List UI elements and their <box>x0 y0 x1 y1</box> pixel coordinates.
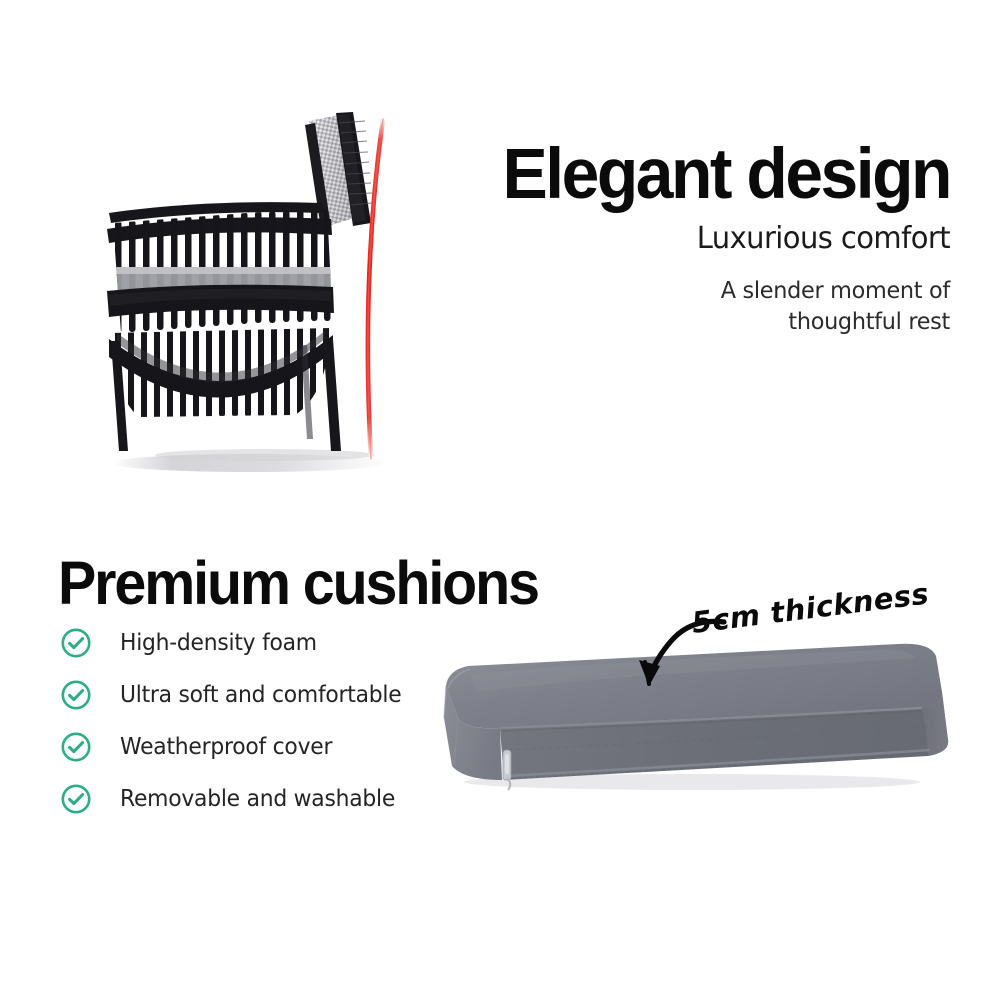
hero-subtitle: Luxurious comfort <box>456 220 950 258</box>
hero-description-line-1: A slender moment of <box>456 275 950 306</box>
list-item: Removable and washable <box>60 773 480 825</box>
feature-list: High-density foam Ultra soft and comfort… <box>60 617 480 825</box>
check-circle-icon <box>60 731 92 763</box>
feature-label: Weatherproof cover <box>120 734 332 760</box>
product-infographic: Elegant design Luxurious comfort A slend… <box>0 0 1000 1000</box>
check-circle-icon <box>60 783 92 815</box>
armchair-side-view-icon <box>95 95 445 495</box>
list-item: High-density foam <box>60 617 480 669</box>
feature-label: Removable and washable <box>120 786 395 812</box>
check-circle-icon <box>60 679 92 711</box>
wicker-armchair-illustration <box>95 95 445 495</box>
list-item: Ultra soft and comfortable <box>60 669 480 721</box>
hero-text-block: Elegant design Luxurious comfort A slend… <box>430 140 950 337</box>
hero-description-line-2: thoughtful rest <box>456 306 950 337</box>
check-circle-icon <box>60 627 92 659</box>
page-title: Elegant design <box>453 140 950 210</box>
hero-description: A slender moment of thoughtful rest <box>456 275 950 338</box>
list-item: Weatherproof cover <box>60 721 480 773</box>
feature-label: High-density foam <box>120 630 317 656</box>
feature-label: Ultra soft and comfortable <box>120 682 401 708</box>
